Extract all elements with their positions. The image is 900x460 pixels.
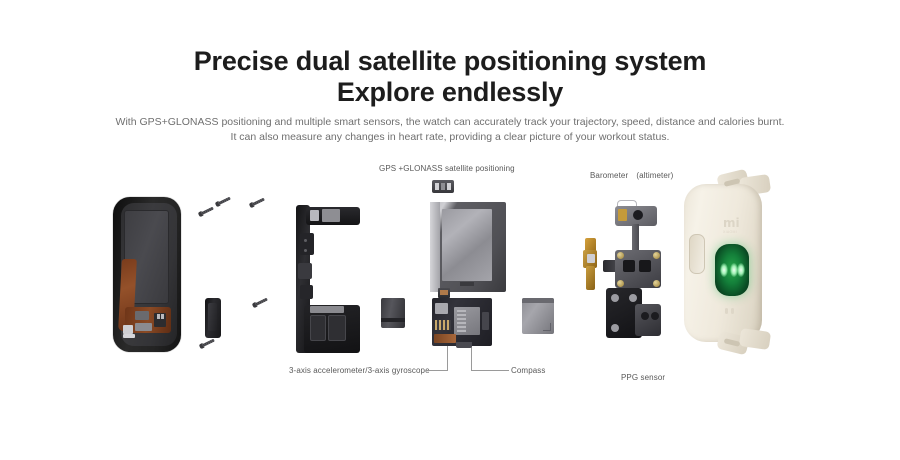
barometer-port — [633, 210, 643, 220]
display-flex-tab — [438, 288, 450, 298]
screw-shaft — [218, 197, 231, 205]
frame-window-2 — [328, 315, 346, 341]
page-subtitle-line1: With GPS+GLONASS positioning and multipl… — [0, 115, 900, 131]
sensor-flex-ribbon — [632, 224, 639, 252]
page-title-line2: Explore endlessly — [0, 77, 900, 108]
gold-white-pad — [587, 254, 595, 263]
frame-window-1 — [310, 315, 326, 341]
mount-hole-2 — [629, 294, 637, 302]
page-subtitle-line2: It can also measure any changes in heart… — [0, 130, 900, 146]
connector-c — [154, 313, 166, 327]
leader-line-compass-vertical — [471, 346, 472, 370]
gold-section-bottom — [586, 266, 595, 290]
screw-shaft — [255, 298, 268, 306]
product-feature-page: Precise dual satellite positioning syste… — [0, 0, 900, 460]
leader-line-compass-horizontal — [471, 370, 509, 371]
connector-pad-2 — [123, 334, 135, 338]
gps-antenna-module — [432, 180, 454, 193]
pcb-shield-fins — [457, 310, 466, 332]
pcb-gold-pins — [435, 320, 451, 330]
label-accelerometer-gyroscope: 3-axis accelerometer/3-axis gyroscope — [289, 366, 430, 375]
display-notch — [460, 282, 474, 286]
mi-logo-subtext: XIAOMI — [717, 230, 743, 234]
label-barometer: Barometer (altimeter) — [590, 170, 673, 181]
gps-contact-3 — [447, 183, 451, 190]
charging-contact-1 — [725, 308, 728, 314]
frame-node-2 — [298, 263, 312, 279]
sensor-screw-1 — [617, 252, 624, 259]
frame-node-1 — [300, 233, 314, 255]
side-button-module — [205, 298, 221, 338]
page-title-line1: Precise dual satellite positioning syste… — [194, 46, 706, 76]
imu-chip-1 — [623, 260, 635, 272]
frame-dot-1 — [304, 239, 307, 242]
mainboard-pcb — [432, 298, 492, 346]
mid-frame-chassis — [296, 205, 360, 353]
display-left-edge — [430, 202, 440, 292]
frame-bottom-strip — [310, 306, 344, 313]
frame-node-3 — [300, 285, 313, 299]
imu-chip-2 — [639, 260, 651, 272]
screw-shaft — [201, 207, 214, 215]
leader-line-imu-horizontal — [426, 370, 448, 371]
screw-3 — [249, 197, 266, 209]
frame-top-window — [322, 209, 340, 222]
connector-pin-2 — [161, 314, 164, 319]
label-ppg-sensor: PPG sensor — [621, 373, 665, 382]
gps-contact-1 — [435, 183, 439, 190]
exploded-view-diagram: GPS +GLONASS satellite positioning Barom… — [0, 150, 900, 400]
compass-module — [522, 298, 554, 334]
ppg-sensor-window — [715, 244, 749, 296]
screw-shaft — [202, 339, 215, 347]
rear-case-shell: mi XIAOMI — [684, 172, 762, 352]
watch-body-battery-assembly — [113, 197, 181, 352]
leader-line-imu-vertical — [447, 346, 448, 370]
mount-hole-3 — [611, 324, 619, 332]
sensor-screw-2 — [653, 252, 660, 259]
sensor-screw-3 — [617, 280, 624, 287]
barometer-gold-contact — [618, 209, 627, 221]
display-panel — [430, 202, 506, 292]
charging-contact-2 — [731, 308, 734, 314]
pcb-copper-trace — [434, 334, 456, 343]
ppg-led-glow-1 — [720, 263, 728, 277]
label-gps-glonass: GPS +GLONASS satellite positioning — [379, 164, 515, 173]
screw-2 — [215, 196, 232, 208]
pcb-component-square — [435, 303, 448, 314]
connector-a — [135, 311, 149, 320]
ppg-sensor-module — [635, 304, 661, 336]
gold-contact-bracket — [583, 238, 597, 290]
screw-shaft — [252, 198, 265, 206]
connector-b — [135, 323, 152, 331]
frame-top-window-2 — [310, 210, 319, 221]
ppg-led-window-2 — [651, 312, 659, 320]
ppg-led-glow-3 — [737, 263, 745, 277]
mi-logo: mi — [723, 216, 737, 230]
label-compass: Compass — [511, 366, 546, 375]
connector-pad-1 — [123, 325, 133, 334]
pcb-bottom-tab — [456, 342, 472, 348]
side-button-crown — [689, 234, 705, 274]
speaker-block — [381, 298, 405, 328]
sensor-screw-4 — [653, 280, 660, 287]
screw-4 — [252, 297, 269, 309]
page-subtitle: With GPS+GLONASS positioning and multipl… — [0, 115, 900, 146]
connector-pin-1 — [157, 314, 160, 319]
display-glass — [442, 209, 492, 281]
screw-1 — [198, 206, 215, 218]
page-title: Precise dual satellite positioning syste… — [0, 46, 900, 108]
ppg-led-window-1 — [641, 312, 649, 320]
gps-contact-2 — [441, 183, 445, 190]
frame-dot-2 — [304, 249, 307, 252]
sensor-flex-assembly — [603, 200, 669, 350]
pcb-right-component — [482, 312, 489, 330]
mount-hole-1 — [611, 294, 619, 302]
screw-5 — [199, 338, 216, 350]
